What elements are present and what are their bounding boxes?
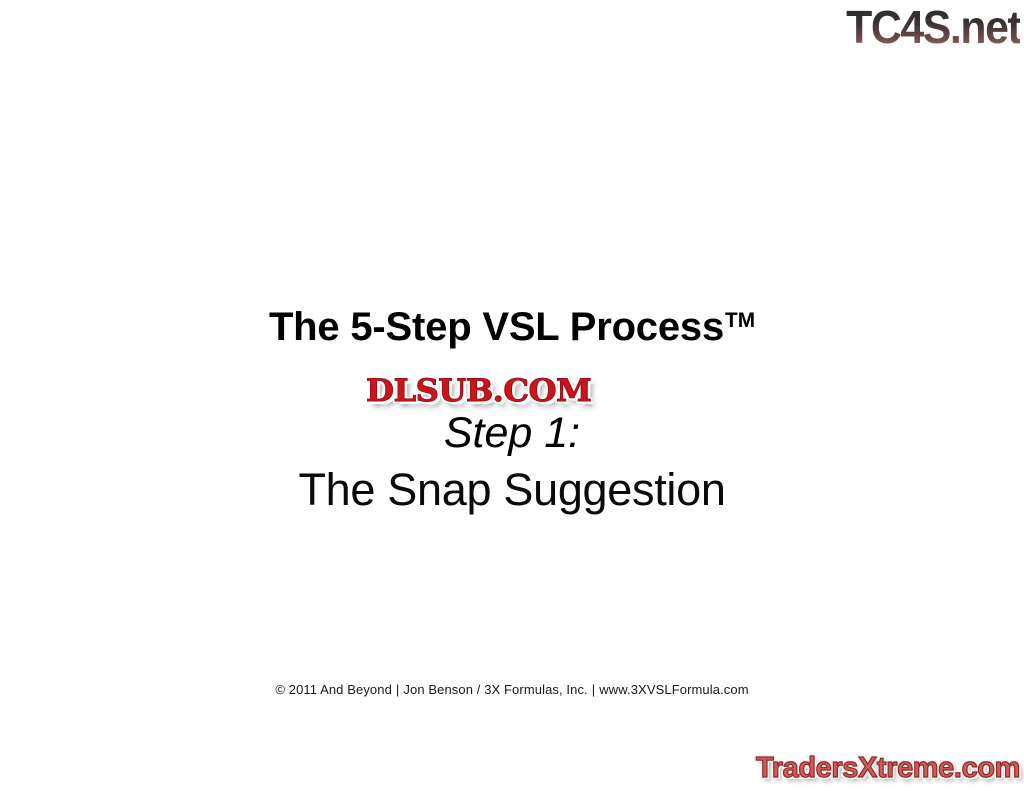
slide-title: The 5-Step VSL ProcessTM — [0, 305, 1024, 350]
trademark-symbol: TM — [725, 309, 755, 332]
footer-separator-2: | — [588, 682, 599, 697]
step-subject: The Snap Suggestion — [0, 464, 1024, 516]
slide-title-text: The 5-Step VSL Process — [269, 305, 724, 349]
footer-copyright: © 2011 And Beyond — [275, 682, 392, 697]
tradersxtreme-watermark: TradersXtreme.com — [756, 751, 1020, 785]
step-label: Step 1: — [0, 409, 1024, 458]
tc4s-logo-watermark: TC4S.net — [846, 2, 1020, 52]
footer-author: Jon Benson / 3X Formulas, Inc. — [403, 682, 587, 697]
footer-credit-line: © 2011 And Beyond|Jon Benson / 3X Formul… — [0, 682, 1024, 697]
dlsub-watermark: DLSUB.COM — [366, 372, 591, 410]
footer-website: www.3XVSLFormula.com — [599, 682, 748, 697]
presentation-slide: TC4S.net The 5-Step VSL ProcessTM Step 1… — [0, 0, 1024, 791]
footer-separator-1: | — [392, 682, 403, 697]
